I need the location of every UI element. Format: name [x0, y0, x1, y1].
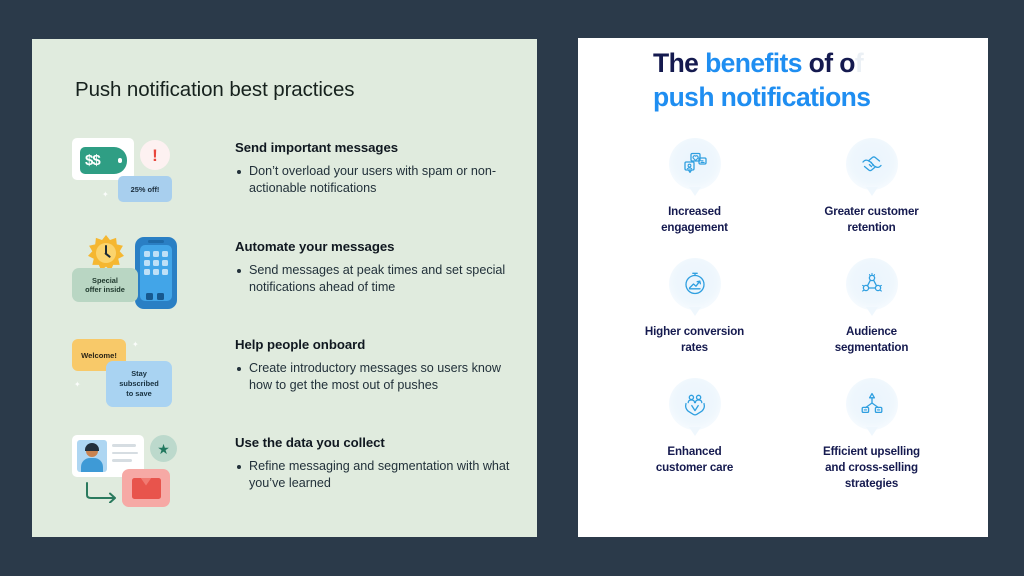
tip-bullet: Refine messaging and segmentation with w…	[235, 458, 513, 492]
benefit-line-2: engagement	[661, 221, 728, 234]
benefit-line-1: Audience	[846, 325, 897, 338]
benefit-item-efficient-upselling: Efficient upselling and cross-selling st…	[783, 378, 960, 492]
benefit-line-1: Greater customer	[824, 205, 918, 218]
tip-heading: Automate your messages	[235, 239, 513, 254]
benefit-label: Greater customer retention	[824, 204, 918, 236]
right-panel-title: The benefits of ofpush notifications	[653, 47, 983, 114]
benefit-label: Enhanced customer care	[656, 444, 733, 476]
benefit-label: Higher conversion rates	[645, 324, 744, 356]
benefit-line-1: Enhanced	[667, 445, 721, 458]
chip-line-2: offer inside	[85, 285, 125, 294]
tip-bullet: Create introductory messages so users kn…	[235, 360, 513, 394]
benefit-item-enhanced-customer-care: Enhanced customer care	[606, 378, 783, 492]
benefit-label: Audience segmentation	[835, 324, 909, 356]
title-part-o: o	[839, 48, 855, 78]
tip-row: $$ ! 25% off! ✦ Send important messages …	[70, 136, 510, 228]
title-part-the: The	[653, 48, 705, 78]
sparkle-icon: ✦	[132, 341, 139, 349]
left-panel-title: Push notification best practices	[75, 78, 354, 102]
clock-sun-phone-illustration: Special offer inside	[70, 235, 190, 327]
tip-heading: Use the data you collect	[235, 435, 513, 450]
envelope-icon	[122, 469, 170, 507]
tip-bullet-text: Send messages at peak times and set spec…	[249, 262, 513, 296]
benefit-line-2: rates	[681, 341, 708, 354]
benefit-line-2: retention	[847, 221, 895, 234]
right-slide-panel: The benefits of ofpush notifications	[578, 38, 988, 537]
benefit-label: Increased engagement	[661, 204, 728, 236]
price-tag-alert-illustration: $$ ! 25% off! ✦	[70, 136, 190, 228]
price-tag-icon: $$	[80, 147, 127, 174]
welcome-cards-illustration: Welcome! Stay subscribed to save ✦ ✦	[70, 333, 190, 425]
benefit-line-1: Efficient upselling	[823, 445, 920, 458]
customer-care-hands-icon	[682, 391, 708, 417]
avatar-body	[81, 458, 103, 472]
tip-bullet-text: Refine messaging and segmentation with w…	[249, 458, 513, 492]
tip-row: Welcome! Stay subscribed to save ✦ ✦ Hel…	[70, 333, 510, 425]
icon-badge	[669, 138, 721, 190]
phone-dock	[146, 293, 164, 300]
upselling-cross-selling-nodes-icon	[859, 391, 885, 417]
tip-text-block: Send important messages Don’t overload y…	[235, 140, 513, 197]
price-tag-label: $$	[85, 153, 100, 168]
tip-heading: Help people onboard	[235, 337, 513, 352]
tip-bullet: Don’t overload your users with spam or n…	[235, 163, 513, 197]
benefit-item-audience-segmentation: Audience segmentation	[783, 258, 960, 356]
conversion-chart-icon	[682, 271, 708, 297]
profile-card-envelope-illustration: ★	[70, 431, 190, 523]
slide-canvas: Push notification best practices $$ ! 25…	[0, 0, 1024, 576]
avatar-hair	[85, 443, 99, 451]
app-grid	[144, 251, 168, 275]
avatar	[77, 440, 107, 472]
title-part-of: of	[802, 48, 839, 78]
benefits-grid: Increased engagement	[606, 138, 960, 492]
title-part-push-notifications: push notifications	[653, 82, 870, 112]
sun-clock-icon	[88, 235, 124, 271]
tip-bullet: Send messages at peak times and set spec…	[235, 262, 513, 296]
title-part-f-faded: f	[855, 48, 863, 78]
alert-glyph: !	[152, 147, 158, 164]
star-glyph: ★	[157, 442, 170, 456]
icon-badge	[846, 138, 898, 190]
audience-segmentation-network-icon	[859, 271, 885, 297]
tip-bullet-text: Create introductory messages so users kn…	[249, 360, 513, 394]
benefit-line-2: customer care	[656, 461, 733, 474]
customer-retention-handshake-icon	[859, 151, 885, 177]
phone-notch	[148, 240, 164, 243]
icon-badge	[846, 258, 898, 310]
envelope-body	[132, 478, 161, 499]
tip-heading: Send important messages	[235, 140, 513, 155]
special-offer-chip: Special offer inside	[72, 268, 138, 302]
discount-chip: 25% off!	[118, 176, 172, 202]
benefit-item-greater-customer-retention: Greater customer retention	[783, 138, 960, 236]
title-part-benefits: benefits	[705, 48, 802, 78]
benefit-item-higher-conversion-rates: Higher conversion rates	[606, 258, 783, 356]
tip-text-block: Use the data you collect Refine messagin…	[235, 435, 513, 492]
profile-text-lines	[112, 444, 138, 467]
stay-line-2: subscribed	[119, 379, 158, 389]
icon-badge	[669, 378, 721, 430]
icon-badge	[669, 258, 721, 310]
benefit-label: Efficient upselling and cross-selling st…	[823, 444, 920, 492]
stay-line-3: to save	[126, 389, 151, 399]
sparkle-icon: ✦	[74, 381, 81, 389]
left-slide-panel: Push notification best practices $$ ! 25…	[32, 39, 537, 537]
icon-badge	[846, 378, 898, 430]
tip-text-block: Automate your messages Send messages at …	[235, 239, 513, 296]
stay-subscribed-chip: Stay subscribed to save	[106, 361, 172, 407]
alert-icon: !	[140, 140, 170, 170]
tip-bullet-text: Don’t overload your users with spam or n…	[249, 163, 513, 197]
stay-line-1: Stay	[131, 369, 147, 379]
tip-row: Special offer inside Automate your messa…	[70, 235, 510, 327]
benefit-line-2: and cross-selling	[825, 461, 918, 474]
arrow-icon	[84, 481, 124, 503]
benefit-line-1: Increased	[668, 205, 721, 218]
star-badge-icon: ★	[150, 435, 177, 462]
sparkle-icon: ✦	[102, 191, 109, 199]
tag-card: $$	[72, 138, 134, 180]
benefit-item-increased-engagement: Increased engagement	[606, 138, 783, 236]
chip-line-1: Special	[92, 276, 118, 285]
benefit-line-1: Higher conversion	[645, 325, 744, 338]
engagement-cards-icon	[682, 151, 708, 177]
benefit-line-2: segmentation	[835, 341, 909, 354]
benefit-line-3: strategies	[845, 477, 898, 490]
tip-text-block: Help people onboard Create introductory …	[235, 337, 513, 394]
tip-row: ★ Use the data you collect Refine messag…	[70, 431, 510, 523]
phone-icon	[135, 237, 177, 309]
